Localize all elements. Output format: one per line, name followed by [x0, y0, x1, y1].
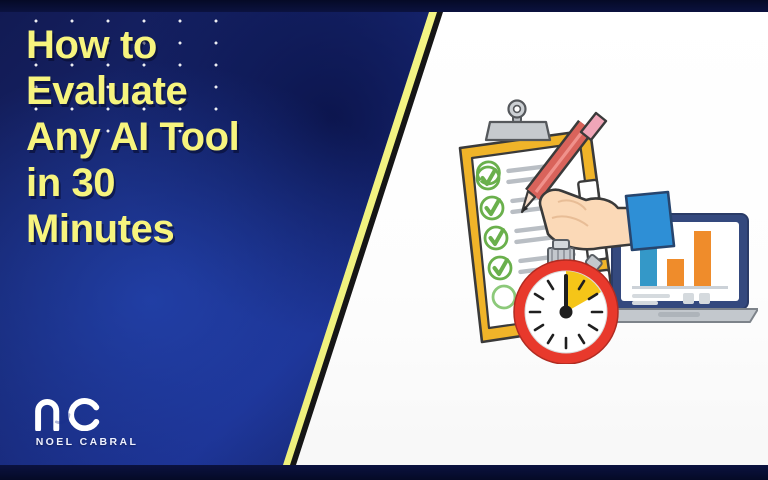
bar-2 [667, 259, 684, 286]
chart-baseline [632, 286, 728, 289]
page-title: How to Evaluate Any AI Tool in 30 Minute… [26, 22, 326, 252]
bottom-border-band [0, 465, 768, 480]
top-border-band [0, 0, 768, 12]
illustration-group [440, 96, 758, 364]
nc-monogram-icon [32, 391, 106, 431]
slide-canvas: How to Evaluate Any AI Tool in 30 Minute… [0, 0, 768, 480]
brand-name: NOEL CABRAL [22, 436, 152, 448]
bar-3 [694, 231, 711, 286]
brand-logo: NOEL CABRAL [22, 391, 152, 448]
clipboard-clip [486, 101, 550, 141]
